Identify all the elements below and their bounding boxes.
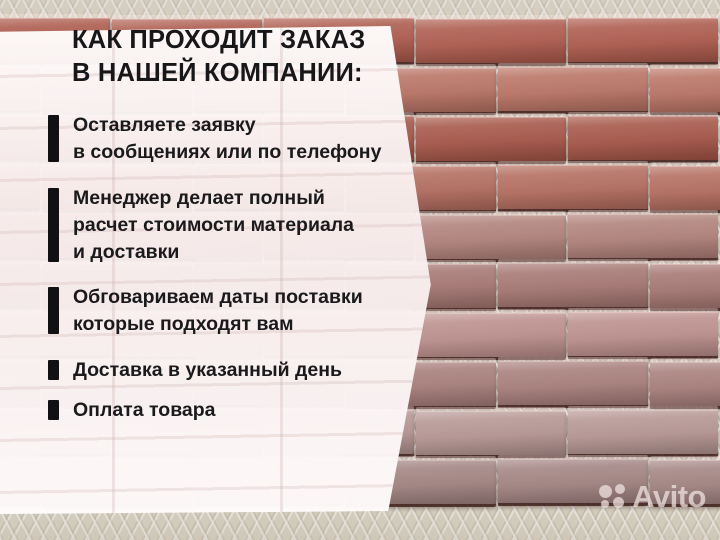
step-text: Обговариваем даты поставки которые подхо… (73, 284, 440, 338)
steps-list: Оставляете заявку в сообщениях или по те… (48, 112, 440, 437)
brick (568, 116, 718, 160)
brick (568, 214, 718, 258)
promo-image: Как проходит заказ в нашей компании: Ост… (0, 0, 720, 540)
step-marker (48, 360, 59, 380)
brick (498, 67, 648, 111)
brick (650, 166, 720, 210)
step-item: Доставка в указанный день (48, 357, 440, 384)
step-item: Менеджер делает полный расчет стоимости … (48, 185, 440, 266)
panel-content: Как проходит заказ в нашей компании: Ост… (0, 0, 448, 488)
step-marker (48, 287, 59, 334)
brick (650, 460, 720, 504)
step-text: Оплата товара (73, 397, 440, 424)
step-text: Оставляете заявку в сообщениях или по те… (73, 112, 440, 166)
brick (498, 459, 648, 503)
brick (568, 18, 718, 62)
brick (568, 312, 718, 356)
step-text: Менеджер делает полный расчет стоимости … (73, 185, 440, 266)
page-title: Как проходит заказ в нашей компании: (72, 24, 412, 90)
brick (650, 68, 720, 112)
brick (498, 165, 648, 209)
step-item: Оплата товара (48, 397, 440, 424)
brick (498, 263, 648, 307)
step-marker (48, 188, 59, 262)
brick (650, 264, 720, 308)
brick (498, 361, 648, 405)
brick (568, 410, 718, 454)
step-marker (48, 115, 59, 162)
brick (650, 362, 720, 406)
step-item: Обговариваем даты поставки которые подхо… (48, 284, 440, 338)
step-text: Доставка в указанный день (73, 357, 440, 384)
step-item: Оставляете заявку в сообщениях или по те… (48, 112, 440, 166)
step-marker (48, 400, 59, 420)
